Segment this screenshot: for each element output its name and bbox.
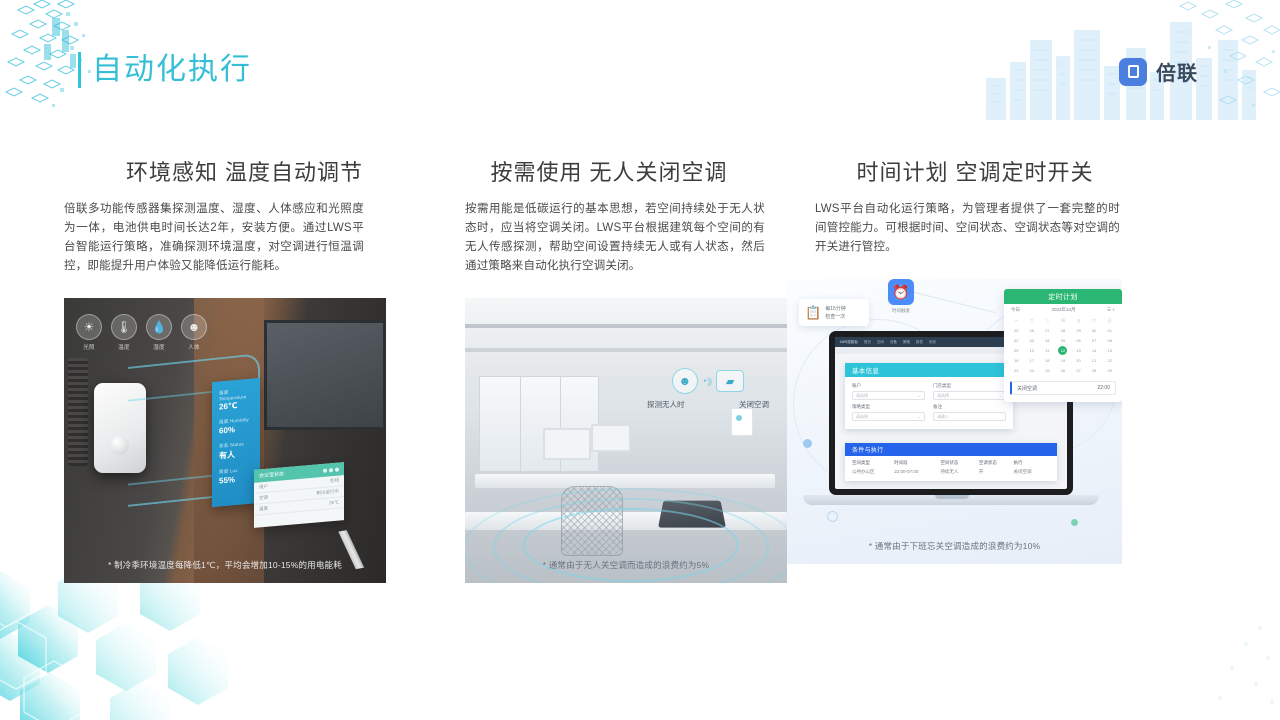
photo1-status-value: 26℃ [329,500,339,507]
decorative-dots-bottom-right [1160,610,1280,720]
calendar-dow: 三 [1040,316,1055,325]
photo1-status-panel: 会议室状态 用户 在线 空调 制冷运行中 温度 26℃ [254,462,344,528]
photo2-monitor [543,428,591,460]
column-body-text: 倍联多功能传感器集探测温度、湿度、人体感应和光照度为一体，电池供电时间长达2年，… [64,200,364,276]
photo1-status-panel-title: 会议室状态 [259,470,284,479]
photo1-vent-grill [68,358,88,466]
table-header-cell: 空间类型 [852,460,892,469]
calendar-day[interactable]: 04 [1040,336,1055,345]
calendar-day[interactable]: 24 [1025,366,1040,375]
table-header-cell: 空调状态 [979,460,1012,469]
photo1-readout-card: 温度 Temperature 26℃ 湿度 Humidity 60% 状态 St… [212,378,260,507]
photo3-menu-item[interactable]: 首页 [864,340,871,345]
photo2-flow-overlay: ☻ ‣)) ▰ 探测无人时 关闭空调 [645,368,771,410]
page-title: 自动化执行 [92,50,252,90]
photo3-clock-label: 时间触发 [883,308,919,314]
photo3-field-label: 账户 [852,383,925,389]
photo1-sensor-icon-item: 🌡 温度 [111,314,137,351]
calendar-day[interactable]: 28 [1087,366,1102,375]
photo3-schedule-item[interactable]: 关闭空调 22:00 [1010,381,1116,395]
photo2-ceiling [465,298,787,376]
photo1-readout-row: 照度 Lux 55% [219,467,253,486]
photo1-icon-label: 人体 [181,343,207,351]
photo3-laptop-notch [935,495,969,499]
calendar-day[interactable]: 02 [1009,336,1024,345]
photo1-status-label: 温度 [259,506,268,513]
calendar-dow: 一 [1009,316,1024,325]
calendar-day[interactable]: 08 [1102,336,1117,345]
signal-arrow-icon: ‣)) [703,376,711,387]
calendar-day[interactable]: 26 [1056,366,1071,375]
photo1-readout-value: 55% [219,474,253,486]
table-header-cell: 时间段 [894,460,938,469]
title-accent-bar [78,52,81,88]
photo3-decor-dot [803,439,812,448]
chevron-down-icon: ⌄ [999,393,1002,398]
photo3-menu-item[interactable]: 空间 [877,340,884,345]
slide-root: 自动化执行 倍联 环境感知 温度自动调节 倍联多功能传感器集探测温度、湿度、人体… [0,0,1280,720]
photo3-tooltip-line1: 每15分钟 [825,305,846,313]
calendar-day[interactable]: 17 [1025,356,1040,365]
photo3-field-placeholder: 请选择 [937,393,949,399]
occupancy-sensor-icon: ☻ [672,368,698,394]
calendar-day[interactable]: 27 [1040,326,1055,335]
photo3-field-placeholder: 请选择 [856,414,868,420]
calendar-dow: 六 [1087,316,1102,325]
photo2-monitor [591,424,631,452]
calendar-day[interactable]: 14 [1087,346,1102,355]
calendar-dow: 四 [1056,316,1071,325]
photo1-sensor-icon-item: ☀ 光照 [76,314,102,351]
table-cell: 公共办公区 [852,469,892,475]
photo1-status-label: 空调 [259,495,268,502]
photo3-form-field: 策略类型 请选择 ⌄ [852,404,925,421]
photo3-form-field: 备注 请输入 [933,404,1006,421]
calendar-day[interactable]: 15 [1102,346,1117,355]
photo3-time-trigger: ⏰ 时间触发 [883,279,919,314]
photo2-wall-sensor [731,408,753,436]
photo3-menu-item[interactable]: 报表 [916,340,923,345]
calendar-day[interactable]: 07 [1087,336,1102,345]
photo1-sensor-icon-item: ☻ 人体 [181,314,207,351]
calendar-day[interactable]: 09 [1009,346,1024,355]
photo3-menu-item[interactable]: 策略 [903,340,910,345]
photo3-field-placeholder: 请选择 [856,393,868,399]
photo3-table: 空间类型 时间段 空间状态 空调状态 执行 公共办公区 22:00-07:00 [845,456,1057,481]
photo-schedule-ui: LWS控制台 首页 空间 设备 策略 报表 系统 基本信息 [787,279,1122,564]
photo3-field-label: 策略类型 [852,404,925,410]
photo3-basic-info-card: 基本信息 账户 请选择 ⌄ [845,363,1013,429]
slide-header: 自动化执行 倍联 [0,0,1280,120]
calendar-day[interactable]: 25 [1009,326,1024,335]
calendar-day[interactable]: 11 [1040,346,1055,355]
calendar-day[interactable]: 20 [1071,356,1086,365]
photo1-icon-label: 湿度 [146,343,172,351]
calendar-day[interactable]: 05 [1056,336,1071,345]
photo2-ceiling-rail [465,348,787,352]
calendar-dow: 日 [1102,316,1117,325]
calendar-day[interactable]: 21 [1087,356,1102,365]
calendar-day[interactable]: 26 [1025,326,1040,335]
photo2-flow-labels: 探测无人时 关闭空调 [645,399,771,410]
photo3-menu-item[interactable]: 系统 [929,340,936,345]
calendar-day[interactable]: 10 [1025,346,1040,355]
photo-office-space: ☻ ‣)) ▰ 探测无人时 关闭空调 * 通常由于无人关空调而造成的浪费约为5% [465,298,787,583]
photo3-field-input[interactable]: 请选择 ⌄ [852,412,925,421]
photo3-calendar-title: 定时计划 [1004,289,1122,304]
calendar-day[interactable]: 30 [1087,326,1102,335]
calendar-day[interactable]: 29 [1102,366,1117,375]
photo-caption: * 通常由于下班忘关空调造成的浪费约为10% [787,540,1122,552]
calendar-day[interactable]: 16 [1009,356,1024,365]
column-heading: 按需使用 无人关闭空调 [425,158,755,188]
humidity-icon: 💧 [146,314,172,340]
photo3-schedule-time: 22:00 [1097,385,1110,391]
photo1-status-label: 用户 [259,484,268,491]
photo3-card-body: 账户 请选择 ⌄ 门店类型 [845,377,1013,429]
calendar-day[interactable]: 12 [1056,346,1071,355]
calendar-day[interactable]: 03 [1025,336,1040,345]
photo1-wall-screen [264,320,386,430]
chevron-down-icon: ⌄ [918,414,921,419]
photo3-schedule-label: 关闭空调 [1017,385,1037,392]
calendar-day[interactable]: 06 [1071,336,1086,345]
column-on-demand-usage: 按需使用 无人关闭空调 按需用能是低碳运行的基本思想，若空间持续处于无人状态时，… [425,158,755,588]
photo3-field-label: 门店类型 [933,383,1006,389]
plus-icon[interactable]: + [1112,307,1115,312]
content-columns: 环境感知 温度自动调节 倍联多功能传感器集探测温度、湿度、人体感应和光照度为一体… [0,158,1280,588]
column-heading: 环境感知 温度自动调节 [60,158,425,188]
calendar-dow: 五 [1071,316,1086,325]
photo1-readout-row: 温度 Temperature 26℃ [219,388,253,412]
column-environment-sensing: 环境感知 温度自动调节 倍联多功能传感器集探测温度、湿度、人体感应和光照度为一体… [60,158,425,588]
photo1-readout-value: 26℃ [219,400,253,412]
photo1-icon-label: 光照 [76,343,102,351]
calendar-day[interactable]: 22 [1102,356,1117,365]
photo3-decor-dot [827,511,838,522]
photo3-calendar-toolbar-icons: ☰ + [1107,307,1115,313]
photo3-field-input[interactable]: 请选择 ⌄ [852,391,925,400]
photo1-sensor-icon-row: ☀ 光照 🌡 温度 💧 湿度 ☻ 人体 [76,314,207,351]
chevron-down-icon: ⌄ [918,393,921,398]
calendar-day[interactable]: 25 [1040,366,1055,375]
table-header-cell: 执行 [1014,460,1050,469]
photo3-field-label: 备注 [933,404,1006,410]
photo3-condition-card: 条件与执行 空间类型 时间段 空间状态 空调状态 执行 [845,443,1057,481]
photo1-readout-row: 状态 Status 有人 [219,441,253,462]
air-conditioner-icon: ▰ [716,370,744,392]
calendar-day[interactable]: 19 [1056,356,1071,365]
column-body-text: 按需用能是低碳运行的基本思想，若空间持续处于无人状态时，应当将空调关闭。LWS平… [465,200,765,276]
light-icon: ☀ [76,314,102,340]
calendar-dow: 二 [1025,316,1040,325]
photo3-app-logo: LWS控制台 [840,340,858,345]
photo3-calendar-grid: 一二三四五六日252627282930010203040506070809101… [1004,316,1122,379]
photo3-card-title: 基本信息 [845,363,1013,377]
photo1-readout-row: 湿度 Humidity 60% [219,417,253,436]
photo2-desk [475,474,775,488]
calendar-day[interactable]: 27 [1071,366,1086,375]
table-cell: 开 [979,469,1012,475]
rounded-square-logo-icon [1119,58,1147,86]
column-body-text: LWS平台自动化运行策略，为管理者提供了一套完整的时间管控能力。可根据时间、空间… [815,200,1120,257]
list-icon[interactable]: ☰ [1107,307,1111,312]
photo3-calendar-today-button[interactable]: 今日 [1011,307,1020,313]
table-row: 公共办公区 22:00-07:00 持续无人 开 关闭空调 [852,469,1050,475]
photo1-icon-label: 温度 [111,343,137,351]
photo2-ceiling-rail [465,324,787,328]
photo3-calendar-month[interactable]: 2023年10月 [1052,307,1076,313]
calendar-day[interactable]: 23 [1009,366,1024,375]
photo3-tooltip-card: 📋 每15分钟 检查一次 [799,299,869,326]
photo3-calendar-card: 定时计划 今日 2023年10月 ☰ + 一二三四五六日252627282930… [1004,289,1122,402]
photo2-flow-left-label: 探测无人时 [647,399,685,410]
temperature-icon: 🌡 [111,314,137,340]
photo3-decor-dot [1071,519,1078,526]
photo-caption: * 通常由于无人关空调而造成的浪费约为5% [465,559,787,571]
photo1-sensor-icon-item: 💧 湿度 [146,314,172,351]
photo3-form-grid: 账户 请选择 ⌄ 门店类型 [852,383,1006,421]
table-header-row: 空间类型 时间段 空间状态 空调状态 执行 [852,460,1050,469]
photo3-form-field: 门店类型 请选择 ⌄ [933,383,1006,400]
table-cell: 22:00-07:00 [894,469,938,475]
table-cell: 关闭空调 [1014,469,1050,475]
calendar-day[interactable]: 28 [1056,326,1071,335]
column-time-schedule: 时间计划 空调定时开关 LWS平台自动化运行策略，为管理者提供了一套完整的时间管… [787,158,1127,588]
brand-name: 倍联 [1156,57,1198,86]
photo3-tooltip-text: 每15分钟 检查一次 [825,305,846,321]
calendar-day[interactable]: 13 [1071,346,1086,355]
calendar-day-selected[interactable]: 12 [1058,346,1067,355]
brand-logo: 倍联 [1119,57,1198,86]
photo3-field-placeholder: 请输入 [937,414,949,420]
photo-caption: * 制冷季环境温度每降低1℃，平均会增加10-15%的用电能耗 [64,559,386,571]
photo-sensor-wall: ☀ 光照 🌡 温度 💧 湿度 ☻ 人体 [64,298,386,583]
calendar-day[interactable]: 01 [1102,326,1117,335]
photo1-readout-value: 60% [219,424,253,436]
calendar-day[interactable]: 18 [1040,356,1055,365]
table-cell: 持续无人 [940,469,976,475]
photo2-flow-icons: ☻ ‣)) ▰ [645,368,771,394]
table-header-cell: 空间状态 [940,460,976,469]
photo3-menu-item[interactable]: 设备 [890,340,897,345]
photo3-tooltip-line2: 检查一次 [825,313,846,321]
alarm-clock-icon: ⏰ [888,279,914,305]
photo3-field-input[interactable]: 请输入 [933,412,1006,421]
photo3-field-input[interactable]: 请选择 ⌄ [933,391,1006,400]
photo2-flow-right-label: 关闭空调 [739,399,769,410]
photo3-card-title: 条件与执行 [845,443,1057,456]
photo3-form-field: 账户 请选择 ⌄ [852,383,925,400]
column-heading: 时间计划 空调定时开关 [787,158,1127,188]
photo1-readout-value: 有人 [219,448,253,462]
photo3-calendar-toolbar: 今日 2023年10月 ☰ + [1004,304,1122,316]
photo1-status-value: 制冷运行中 [317,489,340,497]
checklist-icon: 📋 [805,305,821,321]
photo1-status-value: 在线 [330,478,339,485]
calendar-day[interactable]: 29 [1071,326,1086,335]
window-controls-icon [323,467,339,472]
motion-icon: ☻ [181,314,207,340]
